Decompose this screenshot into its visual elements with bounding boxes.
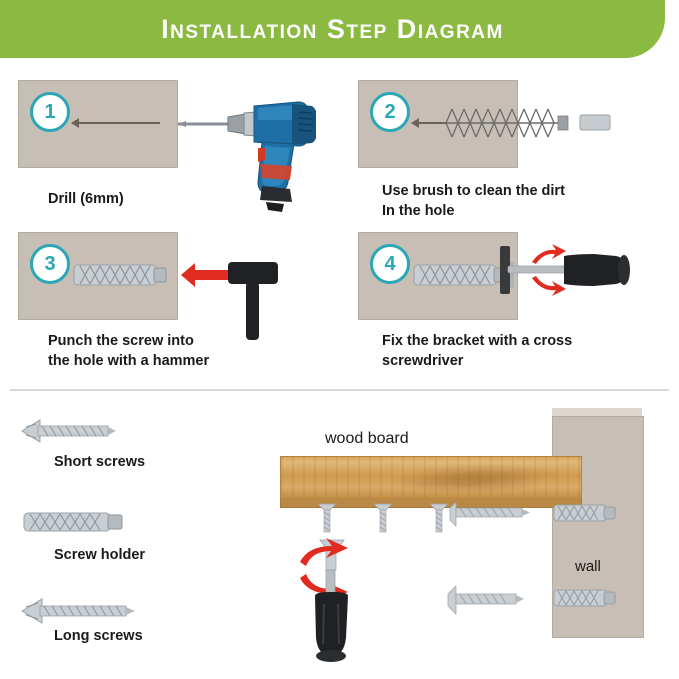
- legend-label-short-screws: Short screws: [54, 454, 145, 470]
- drill-icon: [166, 86, 316, 214]
- step-1-caption: Drill (6mm): [48, 190, 124, 210]
- legend-label-screw-holder: Screw holder: [54, 547, 145, 563]
- screwdriver-icon: [498, 238, 658, 328]
- assembly-illustration: wall wood board: [240, 398, 670, 670]
- step-4-caption: Fix the bracket with a cross screwdriver: [382, 332, 572, 371]
- brush-icon: [440, 102, 615, 144]
- step-1-badge: 1: [30, 92, 70, 132]
- steps-section: 1: [0, 62, 679, 392]
- hammer-icon: [224, 244, 296, 348]
- wood-board-label: wood board: [325, 430, 409, 448]
- page-header: Installation Step Diagram: [0, 0, 679, 60]
- step-3: 3 Punch the screw into the hole with a h…: [18, 232, 338, 382]
- step-2-badge: 2: [370, 92, 410, 132]
- step-3-badge: 3: [30, 244, 70, 284]
- legend-label-long-screws: Long screws: [54, 628, 143, 644]
- step-4: 4: [358, 232, 668, 382]
- lower-mount-screw: [420, 586, 640, 626]
- section-divider: [10, 389, 669, 391]
- wood-board: [280, 456, 582, 500]
- step-2-caption: Use brush to clean the dirt In the hole: [382, 182, 565, 221]
- hole-arrow-1: [72, 122, 160, 124]
- page-title: Installation Step Diagram: [0, 0, 665, 58]
- screw-holder-in-wall-3: [70, 258, 170, 292]
- step-2: 2 Use brush to clean the dirt In the hol…: [358, 80, 668, 230]
- long-screw-icon: [18, 594, 143, 628]
- step-3-caption: Punch the screw into the hole with a ham…: [48, 332, 209, 371]
- step-4-badge: 4: [370, 244, 410, 284]
- assembly-screwdriver-icon: [282, 538, 402, 668]
- parts-legend: Short screws Screw holder Long screws: [18, 404, 238, 664]
- step-1: 1: [18, 80, 338, 230]
- wall-label: wall: [575, 558, 601, 575]
- installation-diagram-page: Installation Step Diagram 1: [0, 0, 679, 679]
- short-screw-icon: [18, 414, 128, 448]
- screw-holder-icon: [18, 504, 133, 538]
